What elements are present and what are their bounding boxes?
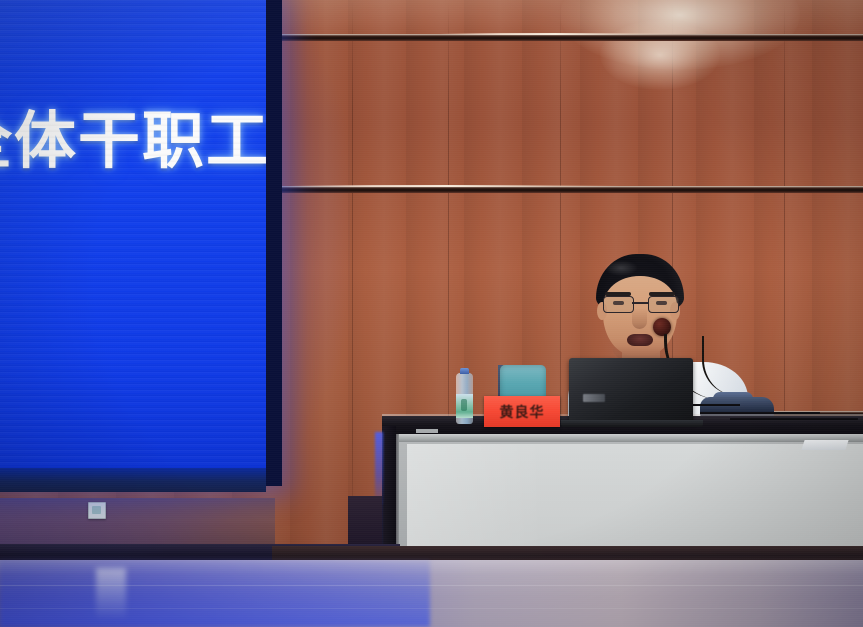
wall-outlet-icon (88, 502, 106, 519)
conference-hall-photo: 黄良华 全体干职工 (0, 0, 863, 627)
eyeglass-lens-right (648, 296, 679, 313)
projection-screen-frame: 全体干职工 (0, 0, 282, 486)
water-bottle-cap (460, 368, 469, 374)
laptop-base (561, 420, 703, 427)
wall-seam-highlight (290, 185, 620, 187)
laptop (569, 358, 693, 422)
wall-blue-tint (0, 498, 275, 546)
wall-panel-seam-vertical (352, 0, 353, 546)
eyeglass-lens-left (603, 296, 634, 313)
water-bottle-body (456, 373, 473, 424)
wall-seam (272, 186, 863, 193)
projection-screen: 全体干职工 (0, 0, 266, 468)
paper-scrap (416, 429, 438, 433)
paper-sheet (801, 440, 848, 450)
eyeglass-bridge (632, 302, 648, 304)
speaker-nose (632, 308, 647, 329)
water-bottle-label (456, 394, 473, 418)
wall-seam-highlight (440, 33, 680, 35)
name-card-text: 黄良华 (500, 402, 545, 422)
floor-seam (0, 585, 863, 586)
floor-light-reflection (96, 568, 126, 620)
wall-seam (272, 34, 863, 41)
cable (730, 418, 858, 430)
name-card: 黄良华 (484, 396, 560, 427)
laptop-logo (583, 394, 605, 402)
projection-screen-text: 全体干职工 (0, 110, 250, 172)
floor-blue-reflection (0, 560, 430, 627)
floor-seam (0, 608, 863, 609)
speaker-eyebrow-right (649, 292, 675, 296)
projection-screen-bottom-band (0, 468, 266, 492)
water-bottle (456, 368, 473, 424)
blue-light-strip (375, 432, 383, 504)
speaker-mouth (627, 334, 653, 346)
podium-top-edge (396, 434, 863, 442)
speaker-eyebrow-left (605, 292, 631, 296)
